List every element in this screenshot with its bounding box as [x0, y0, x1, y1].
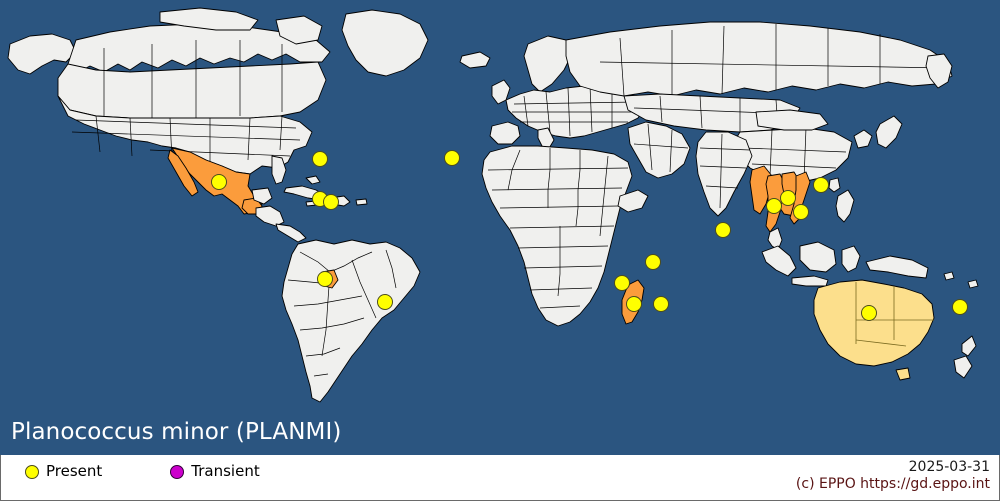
pacific-islands-2[interactable]	[968, 280, 978, 288]
distribution-point[interactable]: Thailand — Present	[767, 199, 782, 214]
distribution-point[interactable]: Reunion — Present	[654, 297, 669, 312]
distribution-point[interactable]: Laos — Present	[781, 191, 796, 206]
eppo-distribution-map-page: Bermuda — PresentMexico — PresentLesser …	[0, 0, 1000, 501]
distribution-point[interactable]: Vietnam — Present	[794, 205, 809, 220]
distribution-point[interactable]: Australia (Northern Territory) — Present	[862, 306, 877, 321]
transient-marker-icon	[170, 465, 184, 479]
distribution-point[interactable]: Bermuda — Present	[313, 152, 328, 167]
world-map-canvas[interactable]: Bermuda — PresentMexico — PresentLesser …	[0, 0, 1000, 455]
map-legend: Present Transient	[25, 464, 260, 479]
map-date: 2025-03-31	[796, 459, 990, 476]
island-puerto-rico[interactable]	[356, 199, 367, 205]
distribution-point[interactable]: Madagascar — Present	[627, 297, 642, 312]
distribution-point[interactable]: Mexico — Present	[212, 175, 227, 190]
legend-label-present: Present	[46, 464, 102, 479]
distribution-point[interactable]: Seychelles — Present	[646, 255, 661, 270]
distribution-point[interactable]: Fiji — Present	[953, 300, 968, 315]
legend-item-present[interactable]: Present	[25, 464, 102, 479]
map-copyright: (c) EPPO https://gd.eppo.int	[796, 476, 990, 493]
distribution-point[interactable]: Comoros — Present	[615, 276, 630, 291]
map-title-bar: Planococcus minor (PLANMI)	[0, 410, 1000, 455]
country-canada-south[interactable]	[58, 62, 326, 118]
distribution-point[interactable]: Trinidad and Tobago — Present	[324, 195, 339, 210]
distribution-point[interactable]: Taiwan — Present	[814, 178, 829, 193]
world-map-svg[interactable]: Bermuda — PresentMexico — PresentLesser …	[0, 0, 1000, 410]
legend-label-transient: Transient	[191, 464, 259, 479]
present-marker-icon	[25, 465, 39, 479]
map-metadata: 2025-03-31 (c) EPPO https://gd.eppo.int	[796, 459, 990, 493]
iberia[interactable]	[490, 122, 520, 144]
distribution-point[interactable]: Brazil (Rondonia) — Present	[318, 272, 333, 287]
distribution-point[interactable]: Sri Lanka — Present	[716, 223, 731, 238]
distribution-point[interactable]: Brazil (Sao Paulo) — Present	[378, 295, 393, 310]
legend-item-transient[interactable]: Transient	[170, 464, 259, 479]
page-title: Planococcus minor (PLANMI)	[11, 421, 341, 444]
pacific-islands[interactable]	[944, 272, 954, 280]
map-footer: Present Transient 2025-03-31 (c) EPPO ht…	[0, 455, 1000, 501]
distribution-point[interactable]: Canary Islands — Present	[445, 151, 460, 166]
